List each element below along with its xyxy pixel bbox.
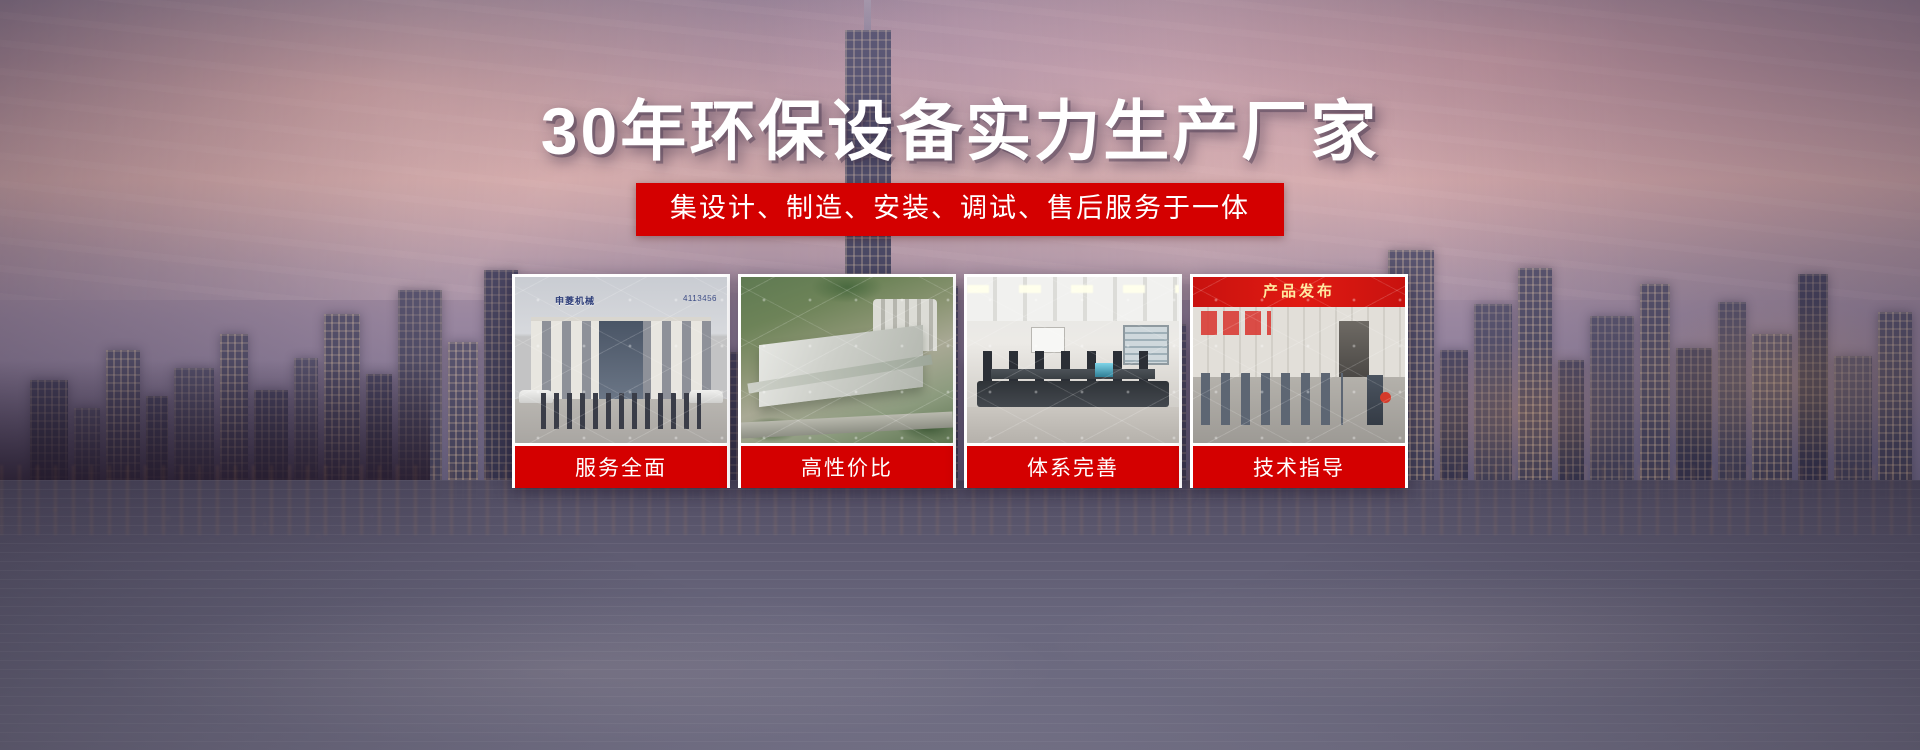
office-floor bbox=[967, 407, 1179, 443]
workshop-banner-text: 产品发布 bbox=[1193, 280, 1405, 301]
feature-card[interactable]: 高性价比 bbox=[738, 274, 956, 488]
staff-lineup bbox=[541, 393, 701, 429]
card-label: 高性价比 bbox=[741, 446, 953, 488]
card-photo-plant bbox=[741, 277, 953, 443]
office-ceiling bbox=[967, 277, 1179, 321]
company-sign-text: 申菱机械 bbox=[555, 294, 595, 307]
back-desk bbox=[991, 369, 1155, 379]
company-phone-text: 4113456 bbox=[683, 294, 717, 303]
feature-cards: 申菱机械 4113456 服务全面 bbox=[512, 274, 1408, 488]
card-photo-workshop: 产品发布 bbox=[1193, 277, 1405, 443]
worker-group bbox=[1201, 373, 1343, 425]
ceiling-lights bbox=[967, 285, 1179, 293]
meeting-desk bbox=[977, 381, 1169, 407]
banner-subtitle-bar: 集设计、制造、安装、调试、售后服务于一体 bbox=[636, 183, 1284, 236]
wall-posters bbox=[1201, 311, 1271, 335]
card-photo-office bbox=[967, 277, 1179, 443]
card-label: 技术指导 bbox=[1193, 446, 1405, 488]
laptop-screen bbox=[1095, 363, 1113, 377]
hero-banner: 30年环保设备实力生产厂家 集设计、制造、安装、调试、售后服务于一体 申菱机械 … bbox=[0, 0, 1920, 750]
card-label: 服务全面 bbox=[515, 446, 727, 488]
seated-staff bbox=[983, 351, 1163, 385]
workshop-door bbox=[1339, 321, 1369, 377]
wall-chart bbox=[1031, 327, 1065, 353]
feature-card[interactable]: 体系完善 bbox=[964, 274, 1182, 488]
feature-card[interactable]: 产品发布 技术指导 bbox=[1190, 274, 1408, 488]
banner-headline: 30年环保设备实力生产厂家 bbox=[541, 97, 1379, 166]
banner-content: 30年环保设备实力生产厂家 集设计、制造、安装、调试、售后服务于一体 申菱机械 … bbox=[0, 0, 1920, 750]
card-label: 体系完善 bbox=[967, 446, 1179, 488]
feature-card[interactable]: 申菱机械 4113456 服务全面 bbox=[512, 274, 730, 488]
card-photo-headquarters: 申菱机械 4113456 bbox=[515, 277, 727, 443]
